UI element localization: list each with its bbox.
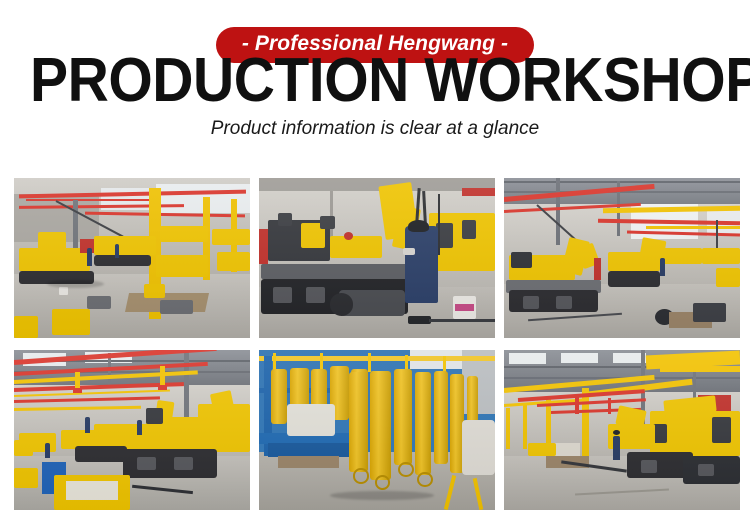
gallery-photo-6[interactable] [504,350,740,510]
production-workshop-banner: - Professional Hengwang - PRODUCTION WOR… [0,0,750,527]
gallery-photo-1[interactable] [14,178,250,338]
gallery-photo-2[interactable] [259,178,495,338]
rig-assembly-scene [259,178,495,338]
gallery-photo-4[interactable] [14,350,250,510]
photo-gallery [14,178,736,510]
assembly-bay-scene [504,178,740,338]
gallery-photo-3[interactable] [504,178,740,338]
gallery-photo-5[interactable] [259,350,495,510]
banner-header: - Professional Hengwang - PRODUCTION WOR… [0,0,750,139]
page-title: PRODUCTION WORKSHOP [30,50,720,112]
badge-row: - Professional Hengwang - [0,0,750,42]
hydraulic-cylinders-scene [259,350,495,510]
production-line-scene [14,350,250,510]
finished-rigs-hall-scene [504,350,740,510]
workshop-overview-scene [14,178,250,338]
page-subtitle: Product information is clear at a glance [0,119,750,139]
